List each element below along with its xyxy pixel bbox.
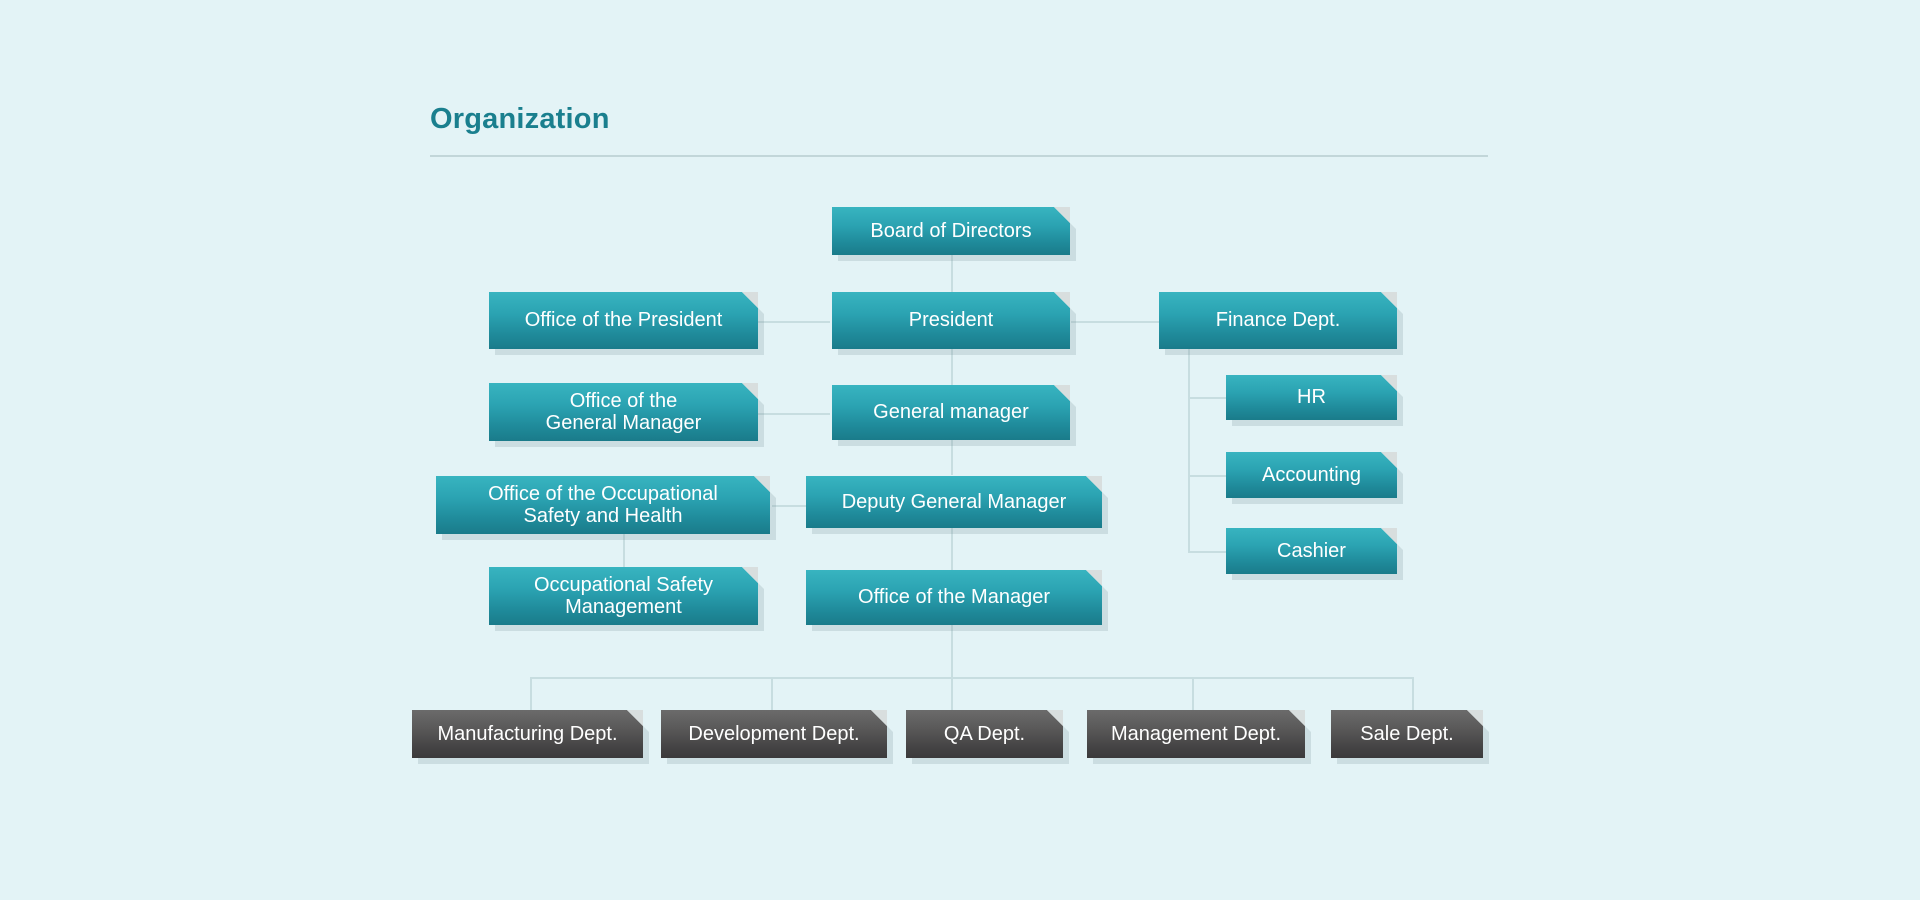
connector-drop-qa xyxy=(951,677,953,710)
connector-finance-to-hr xyxy=(1188,397,1228,399)
node-cashier-box: Cashier xyxy=(1226,528,1397,574)
connector-bottom-bus-bar xyxy=(530,677,1413,679)
node-development-dept-box: Development Dept. xyxy=(661,710,887,758)
org-chart-canvas: Organization Board of Directors Presiden… xyxy=(0,0,1920,900)
node-qa-dept-box: QA Dept. xyxy=(906,710,1063,758)
node-president[interactable]: President xyxy=(832,292,1070,349)
node-finance-dept[interactable]: Finance Dept. xyxy=(1159,292,1397,349)
connector-finance-children-bus xyxy=(1188,348,1190,551)
node-office-of-the-general-manager-box: Office of the General Manager xyxy=(489,383,758,441)
node-office-of-the-occupational-safety-and-health-box: Office of the Occupational Safety and He… xyxy=(436,476,770,534)
node-president-box: President xyxy=(832,292,1070,349)
connector-drop-development xyxy=(771,677,773,710)
node-cashier[interactable]: Cashier xyxy=(1226,528,1397,574)
node-deputy-general-manager-box: Deputy General Manager xyxy=(806,476,1102,528)
title-divider xyxy=(430,155,1488,157)
connector-drop-sale xyxy=(1412,677,1414,710)
connector-finance-to-accounting xyxy=(1188,475,1228,477)
node-manufacturing-dept-box: Manufacturing Dept. xyxy=(412,710,643,758)
node-board-of-directors-box: Board of Directors xyxy=(832,207,1070,255)
node-hr-box: HR xyxy=(1226,375,1397,420)
node-finance-dept-box: Finance Dept. xyxy=(1159,292,1397,349)
node-office-of-the-general-manager[interactable]: Office of the General Manager xyxy=(489,383,758,441)
node-sale-dept[interactable]: Sale Dept. xyxy=(1331,710,1483,758)
node-occupational-safety-management[interactable]: Occupational Safety Management xyxy=(489,567,758,625)
node-qa-dept[interactable]: QA Dept. xyxy=(906,710,1063,758)
page-title: Organization xyxy=(430,103,610,136)
node-board-of-directors[interactable]: Board of Directors xyxy=(832,207,1070,255)
node-manufacturing-dept[interactable]: Manufacturing Dept. xyxy=(412,710,643,758)
node-deputy-general-manager[interactable]: Deputy General Manager xyxy=(806,476,1102,528)
node-office-of-the-president[interactable]: Office of the President xyxy=(489,292,758,349)
node-office-of-the-manager-box: Office of the Manager xyxy=(806,570,1102,625)
node-general-manager-box: General manager xyxy=(832,385,1070,440)
node-accounting[interactable]: Accounting xyxy=(1226,452,1397,498)
connector-spine-deputy-officemgr xyxy=(951,528,953,573)
connector-finance-to-cashier xyxy=(1188,551,1228,553)
connector-spine-officemgr-bus xyxy=(951,625,953,678)
node-sale-dept-box: Sale Dept. xyxy=(1331,710,1483,758)
node-office-of-the-occupational-safety-and-health[interactable]: Office of the Occupational Safety and He… xyxy=(436,476,770,534)
connector-president-to-office-president xyxy=(758,321,830,323)
node-hr[interactable]: HR xyxy=(1226,375,1397,420)
connector-gm-to-office-gm xyxy=(758,413,830,415)
connector-drop-management xyxy=(1192,677,1194,710)
connector-deputy-to-office-osh xyxy=(772,505,806,507)
connector-president-to-finance xyxy=(1071,321,1160,323)
node-office-of-the-manager[interactable]: Office of the Manager xyxy=(806,570,1102,625)
connector-drop-manufacturing xyxy=(530,677,532,710)
node-management-dept[interactable]: Management Dept. xyxy=(1087,710,1305,758)
node-general-manager[interactable]: General manager xyxy=(832,385,1070,440)
node-accounting-box: Accounting xyxy=(1226,452,1397,498)
node-office-of-the-president-box: Office of the President xyxy=(489,292,758,349)
node-occupational-safety-management-box: Occupational Safety Management xyxy=(489,567,758,625)
node-development-dept[interactable]: Development Dept. xyxy=(661,710,887,758)
node-management-dept-box: Management Dept. xyxy=(1087,710,1305,758)
